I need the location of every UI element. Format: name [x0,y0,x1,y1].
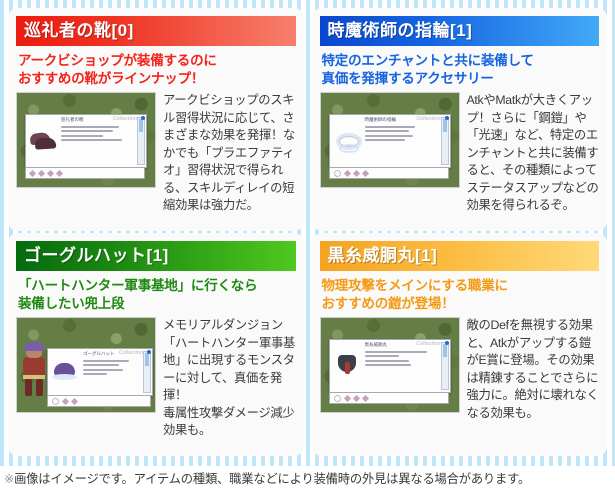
item-card-pilgrim-shoes[interactable]: 巡礼者の靴[0] アークビショップが装備するのに おすすめの靴がラインナップ！ … [8,8,304,231]
text-line [83,360,129,362]
armor-art-icon [335,355,359,377]
text-line [365,364,411,366]
item-card-grid: 巡礼者の靴[0] アークビショップが装備するのに おすすめの靴がラインナップ！ … [0,0,615,466]
gem-slot-icon [343,395,350,402]
text-line [365,135,413,137]
text-line [365,360,409,362]
gem-slot-icon [352,170,359,177]
card-description: 敵のDefを無視する効果と、Atkがアップする鎧がE賞に登場。その効果は精錬する… [467,317,600,422]
gem-slot-icon [56,170,63,177]
sprite-helmet [24,342,44,351]
item-card-black-thread-armor[interactable]: 黒糸威胴丸[1] 物理攻撃をメインにする職業に おすすめの鎧が登場！ 黒糸威胴丸… [312,233,608,456]
dialog-text-area: ゴーグルハット Collection [82,349,152,395]
card-description: メモリアルダンジョン「ハートハンター軍事基地」に出現するモンスターに対して、真価… [163,317,296,439]
card-description: アークビショップのスキル習得状況に応じて、さまざまな効果を発揮！なかでも「プラエ… [163,92,296,214]
hat-art-icon [52,362,78,382]
ingame-slot-bar [329,167,449,179]
item-icon [48,349,82,395]
dialog-description-lines [82,360,143,375]
ingame-item-dialog: 巡礼者の靴 Collection [25,114,147,168]
card-title-bar: 時魔術師の指輪[1] [320,16,600,46]
item-icon [26,115,60,167]
dialog-text-area: 時魔術師の指輪 Collection [364,115,450,167]
item-screenshot-thumbnail[interactable]: ゴーグルハット Collection [16,317,156,413]
shoe-art-icon [30,133,56,149]
text-line [83,369,123,371]
ingame-item-dialog: ゴーグルハット Collection [47,348,153,396]
dialog-description-lines [364,351,441,366]
text-line [365,130,409,132]
card-description: AtkやMatkが大きくアップ！さらに「鋼鎧」や「光速」など、特定のエンチャント… [467,92,600,214]
gem-slot-icon [361,395,368,402]
footer-text-wrap: ※画像はイメージです。アイテムの種類、職業などにより装備時の外見は異なる場合があ… [4,469,530,487]
text-line [365,355,399,357]
text-line [365,351,427,353]
text-line [83,364,119,366]
item-icon [330,340,364,392]
gem-slot-icon [343,170,350,177]
item-screenshot-thumbnail[interactable]: 巡礼者の靴 Collection [16,92,156,188]
dialog-scrollbar[interactable] [137,117,145,165]
text-line [61,126,119,128]
gem-slot-icon [29,170,36,177]
dialog-scrollbar[interactable] [441,117,449,165]
dialog-scrollbar[interactable] [143,351,151,393]
card-title-bar: ゴーグルハット[1] [16,241,296,271]
sprite-leg [36,379,43,396]
text-line [365,126,415,128]
gem-slot-icon [361,170,368,177]
dialog-description-lines [60,126,137,141]
card-title-bar: 黒糸威胴丸[1] [320,241,600,271]
text-line [61,135,103,137]
ring-art-icon [334,132,360,150]
ingame-item-dialog: 時魔術師の指輪 Collection [329,114,451,168]
gem-slot-icon [38,170,45,177]
promo-banner: 巡礼者の靴[0] アークビショップが装備するのに おすすめの靴がラインナップ！ … [0,0,615,490]
card-subtitle: 「ハートハンター軍事基地」に行くなら 装備したい兜上段 [18,277,294,313]
text-line [61,139,122,141]
dialog-text-area: 黒糸威胴丸 Collection [364,340,450,392]
dialog-text-area: 巡礼者の靴 Collection [60,115,146,167]
item-card-goggle-hat[interactable]: ゴーグルハット[1] 「ハートハンター軍事基地」に行くなら 装備したい兜上段 [8,233,304,456]
collection-watermark: Collection [416,116,440,122]
card-body: 巡礼者の靴 Collection [16,92,296,214]
card-subtitle: 特定のエンチャントと共に装備して 真価を発揮するアクセサリー [322,52,598,88]
item-screenshot-thumbnail[interactable]: 黒糸威胴丸 Collection [320,317,460,413]
sprite-leg [25,379,32,396]
gem-slot-icon [352,395,359,402]
character-sprite [21,344,47,398]
asterisk-mark: ※ [4,472,14,486]
ingame-slot-bar [25,167,145,179]
dialog-description-lines [364,126,441,141]
text-line [365,139,405,141]
gem-slot-icon [334,395,341,402]
dialog-scrollbar[interactable] [441,342,449,390]
gem-slot-icon [334,170,341,177]
item-screenshot-thumbnail[interactable]: 時魔術師の指輪 Collection [320,92,460,188]
card-body: 時魔術師の指輪 Collection [320,92,600,214]
card-subtitle: 物理攻撃をメインにする職業に おすすめの鎧が登場！ [322,277,598,313]
gem-slot-icon [62,398,69,405]
gem-slot-icon [52,398,59,405]
collection-watermark: Collection [416,341,440,347]
ingame-item-dialog: 黒糸威胴丸 Collection [329,339,451,393]
item-card-time-mage-ring[interactable]: 時魔術師の指輪[1] 特定のエンチャントと共に装備して 真価を発揮するアクセサリ… [312,8,608,231]
text-line [61,130,113,132]
gem-slot-icon [47,170,54,177]
ingame-slot-bar [329,392,449,404]
footer-disclaimer: ※画像はイメージです。アイテムの種類、職業などにより装備時の外見は異なる場合があ… [0,466,615,490]
item-icon [330,115,364,167]
ingame-slot-bar [47,395,151,407]
card-subtitle: アークビショップが装備するのに おすすめの靴がラインナップ！ [18,52,294,88]
collection-watermark: Collection [113,116,137,122]
card-title-bar: 巡礼者の靴[0] [16,16,296,46]
card-body: 黒糸威胴丸 Collection [320,317,600,422]
gem-slot-icon [71,398,78,405]
card-body: ゴーグルハット Collection [16,317,296,439]
collection-watermark: Collection [119,350,143,356]
footer-note: 画像はイメージです。アイテムの種類、職業などにより装備時の外見は異なる場合があり… [14,472,530,486]
text-line [83,373,107,375]
